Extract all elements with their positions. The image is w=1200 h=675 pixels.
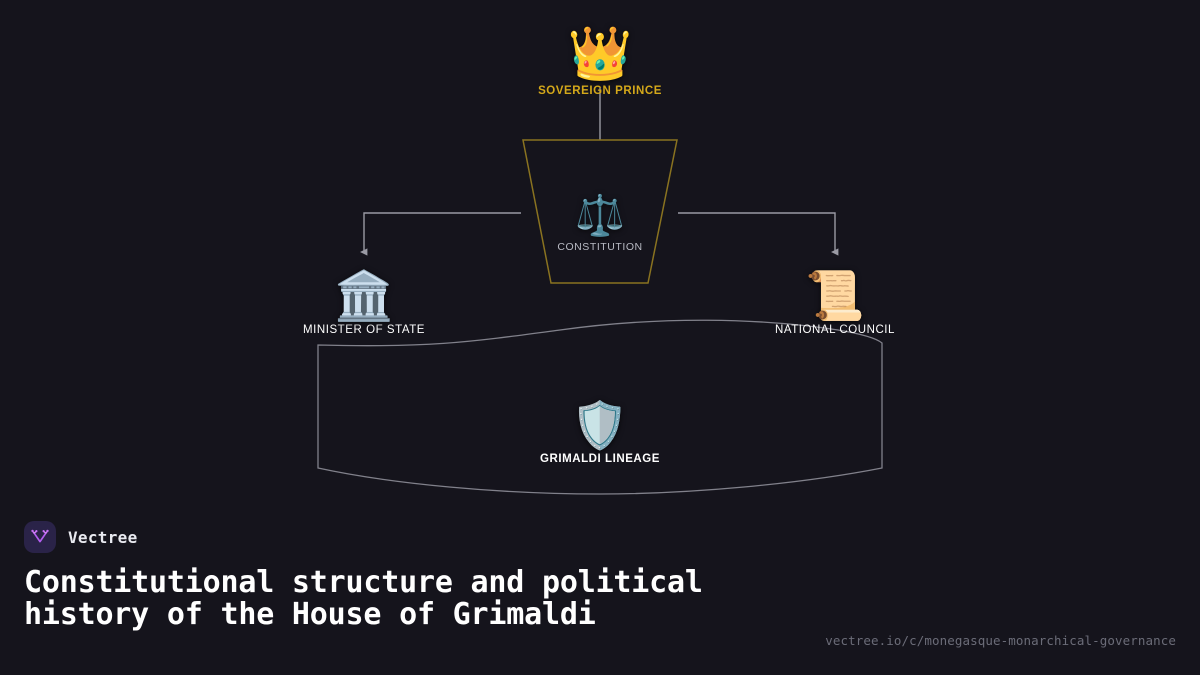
brand[interactable]: Vectree (24, 521, 1176, 553)
vectree-branch-glyph (30, 527, 50, 547)
node-national-council[interactable]: 📜 NATIONAL COUNCIL (775, 272, 895, 336)
node-constitution[interactable]: ⚖️ CONSTITUTION (557, 196, 642, 253)
edge-constitution-council (678, 213, 835, 252)
balance-scale-icon: ⚖️ (557, 196, 642, 236)
node-label-sovereign-prince: SOVEREIGN PRINCE (538, 85, 662, 97)
node-minister-of-state[interactable]: 🏛️ MINISTER OF STATE (303, 272, 425, 336)
edge-constitution-minister (364, 213, 521, 252)
node-sovereign-prince[interactable]: 👑 SOVEREIGN PRINCE (538, 28, 662, 97)
node-label-national-council: NATIONAL COUNCIL (775, 324, 895, 336)
node-label-minister-of-state: MINISTER OF STATE (303, 324, 425, 336)
diagram-canvas[interactable]: 👑 SOVEREIGN PRINCE ⚖️ CONSTITUTION 🏛️ MI… (0, 0, 1200, 505)
classical-building-icon: 🏛️ (303, 272, 425, 320)
page-title: Constitutional structure and political h… (24, 567, 784, 632)
node-grimaldi-lineage[interactable]: 🛡️ GRIMALDI LINEAGE (540, 402, 660, 465)
shield-icon: 🛡️ (540, 402, 660, 448)
vectree-logo-icon (24, 521, 56, 553)
page-url: vectree.io/c/monegasque-monarchical-gove… (825, 633, 1176, 648)
node-label-grimaldi-lineage: GRIMALDI LINEAGE (540, 453, 660, 465)
scroll-icon: 📜 (775, 272, 895, 320)
brand-name: Vectree (68, 528, 138, 547)
crown-icon: 👑 (538, 28, 662, 80)
node-label-constitution: CONSTITUTION (557, 241, 642, 253)
screenshot-root: 👑 SOVEREIGN PRINCE ⚖️ CONSTITUTION 🏛️ MI… (0, 0, 1200, 675)
footer: Vectree Constitutional structure and pol… (0, 505, 1200, 675)
